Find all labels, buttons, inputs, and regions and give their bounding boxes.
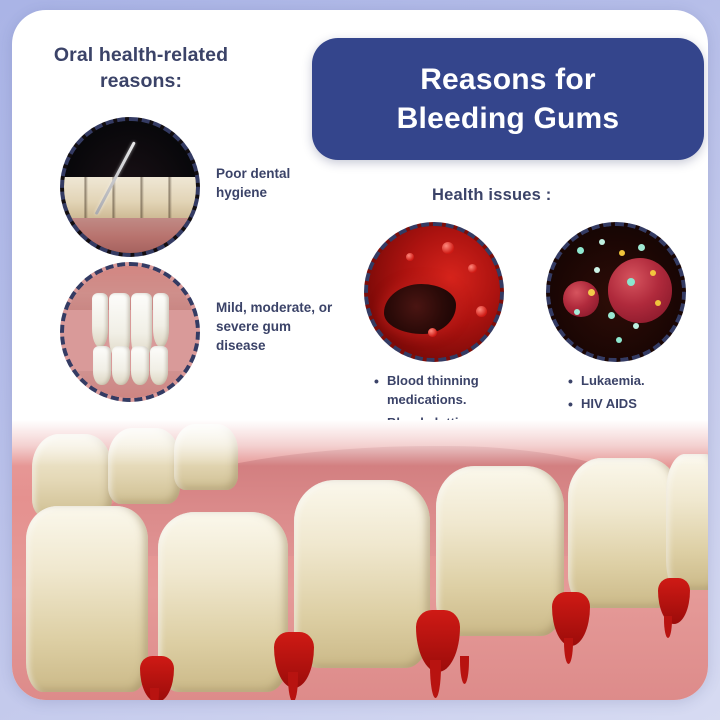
page-title-line2: Bleeding Gums (397, 102, 620, 135)
teeth-row-graphic (60, 177, 200, 222)
bleeding-gums-3d-render (12, 420, 708, 700)
blood-cell (476, 306, 487, 317)
blood-drip (150, 688, 159, 700)
blood-clot-photo (364, 222, 504, 362)
blood-cell (468, 264, 477, 273)
gum-disease-photo-inner (60, 262, 200, 402)
list-item: Lukaemia. (566, 372, 706, 391)
virus-cells-photo (546, 222, 686, 362)
blood-cell (442, 242, 454, 254)
gum-disease-label: Mild, moderate, or severe gum disease (216, 298, 334, 355)
oral-health-heading-line2: reasons: (100, 70, 182, 92)
poor-dental-hygiene-label: Poor dental hygiene (216, 164, 326, 202)
gum-tissue-graphic (60, 218, 200, 257)
title-banner: Reasons for Bleeding Gums (312, 38, 704, 160)
front-molar (158, 512, 288, 692)
blood-cell (406, 253, 414, 261)
tooth (131, 346, 149, 385)
front-molar (294, 480, 430, 668)
tooth (150, 346, 168, 385)
infected-cell-large (608, 258, 672, 322)
infographic-card: Oral health-related reasons: Reasons for… (12, 10, 708, 700)
front-molar (26, 506, 148, 692)
particle (599, 239, 605, 245)
oral-health-heading: Oral health-related reasons: (26, 42, 256, 94)
tooth (153, 293, 169, 347)
infographic-canvas: Oral health-related reasons: Reasons for… (0, 0, 720, 720)
list-item: Blood thinning medications. (372, 372, 522, 410)
poor-dental-hygiene-photo-inner (60, 117, 200, 257)
image-top-fade (12, 420, 708, 466)
tooth (92, 293, 108, 347)
particle (577, 247, 584, 254)
lower-teeth-row (60, 346, 200, 394)
page-title: Reasons for Bleeding Gums (397, 60, 620, 138)
tooth (112, 346, 130, 385)
blood-clot-photo-inner (364, 222, 504, 362)
front-molar (436, 466, 564, 636)
particle (633, 323, 639, 329)
infected-cell-small (563, 281, 599, 317)
front-molar (666, 454, 708, 590)
gum-disease-photo (60, 262, 200, 402)
particle (574, 309, 580, 315)
page-title-line1: Reasons for (420, 63, 596, 96)
tooth (93, 346, 111, 385)
virus-cells-photo-inner (546, 222, 686, 362)
particle (594, 267, 600, 273)
poor-dental-hygiene-photo (60, 117, 200, 257)
particle (650, 270, 656, 276)
health-issues-heading: Health issues : (432, 186, 551, 205)
oral-health-heading-line1: Oral health-related (54, 44, 228, 66)
particle (616, 337, 622, 343)
particle (608, 312, 615, 319)
list-item: HIV AIDS (566, 395, 706, 414)
particle (619, 250, 625, 256)
